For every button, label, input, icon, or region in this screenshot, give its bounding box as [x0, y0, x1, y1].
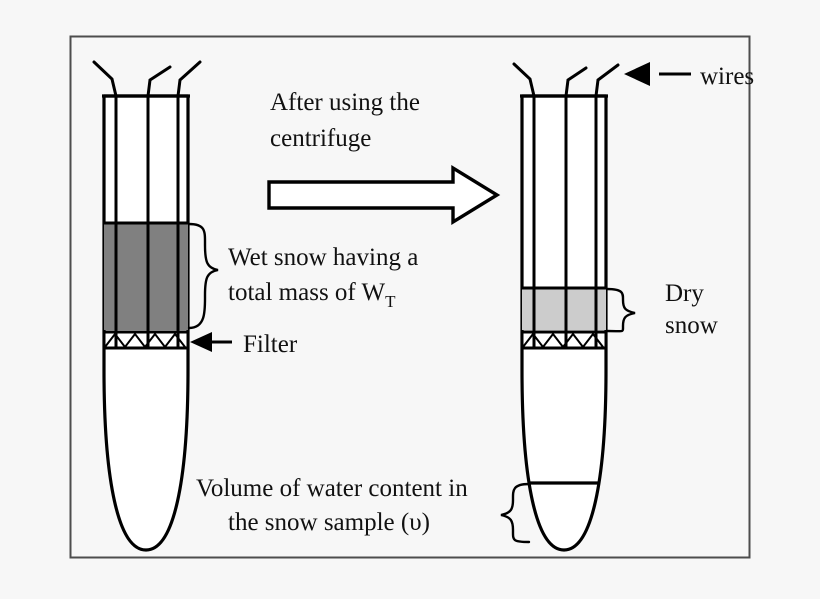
- transition-label-line1: After using the: [270, 89, 420, 116]
- volume-label-line1: Volume of water content in: [196, 475, 468, 502]
- wet-snow-label-line2-text: total mass of W: [228, 279, 386, 306]
- wet-snow-label-subscript: T: [385, 292, 396, 311]
- wet-snow-label-line1: Wet snow having a: [228, 244, 418, 271]
- filter-label: Filter: [243, 331, 298, 358]
- centrifuge-snow-sample-diagram: Wet snow having a total mass of WT Filte…: [0, 0, 820, 599]
- volume-label-line2: the snow sample (υ): [228, 509, 430, 536]
- dry-snow-label-line2: snow: [665, 312, 718, 339]
- figure-canvas: Wet snow having a total mass of WT Filte…: [0, 0, 820, 599]
- transition-label-line2: centrifuge: [270, 125, 371, 152]
- wires-label: wires: [700, 63, 754, 90]
- dry-snow-label-line1: Dry: [665, 280, 704, 307]
